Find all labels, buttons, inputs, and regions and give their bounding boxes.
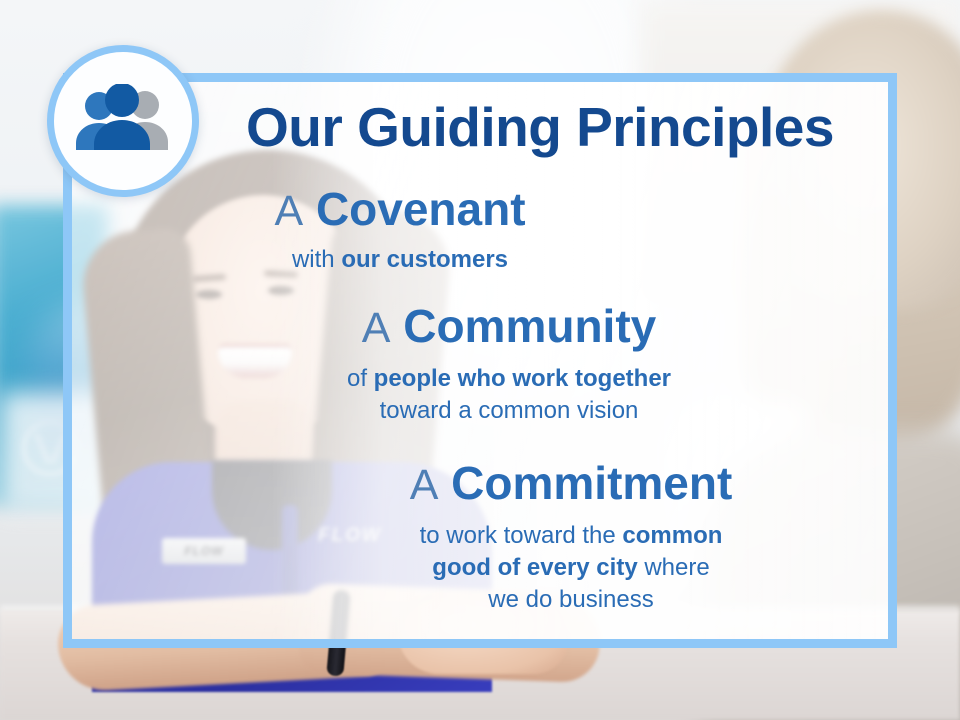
principle-3-sub-bold-1: common <box>622 522 722 549</box>
principle-1-sub-regular: with <box>292 246 341 273</box>
principle-covenant: A Covenant with our customers <box>120 183 680 276</box>
principle-1-heading: A Covenant <box>120 183 680 237</box>
principle-3-sub-bold-2: good of every city <box>432 554 637 581</box>
principle-3-heading: A Commitment <box>260 457 882 511</box>
principle-2-subtext: of people who work together toward a com… <box>200 363 818 427</box>
principle-3-sub-regular: to work toward the <box>420 522 623 549</box>
page-title: Our Guiding Principles <box>215 96 865 158</box>
principle-2-heading: A Community <box>200 300 818 354</box>
principle-2-keyword: Community <box>403 300 656 352</box>
principle-commitment: A Commitment to work toward the common g… <box>260 457 882 616</box>
principle-1-keyword: Covenant <box>316 183 526 235</box>
principle-community: A Community of people who work together … <box>200 300 818 427</box>
principle-3-sub-line3: we do business <box>488 586 653 613</box>
principle-1-subtext: with our customers <box>120 244 680 276</box>
principle-2-sub-bold: people who work together <box>374 365 671 392</box>
principle-2-sub-regular: of <box>347 365 374 392</box>
principle-3-sub-where: where <box>638 554 710 581</box>
principle-1-sub-bold: our customers <box>341 246 508 273</box>
principle-3-subtext: to work toward the common good of every … <box>260 520 882 616</box>
principle-2-lead: A <box>362 304 391 352</box>
principle-3-keyword: Commitment <box>451 457 732 509</box>
principle-1-lead: A <box>274 187 303 235</box>
text-content: Our Guiding Principles A Covenant with o… <box>0 0 960 720</box>
principle-3-lead: A <box>410 461 439 509</box>
banner-graphic: FLOW FLOW Our Guiding Princi <box>0 0 960 720</box>
principle-2-sub-line2: toward a common vision <box>380 397 639 424</box>
